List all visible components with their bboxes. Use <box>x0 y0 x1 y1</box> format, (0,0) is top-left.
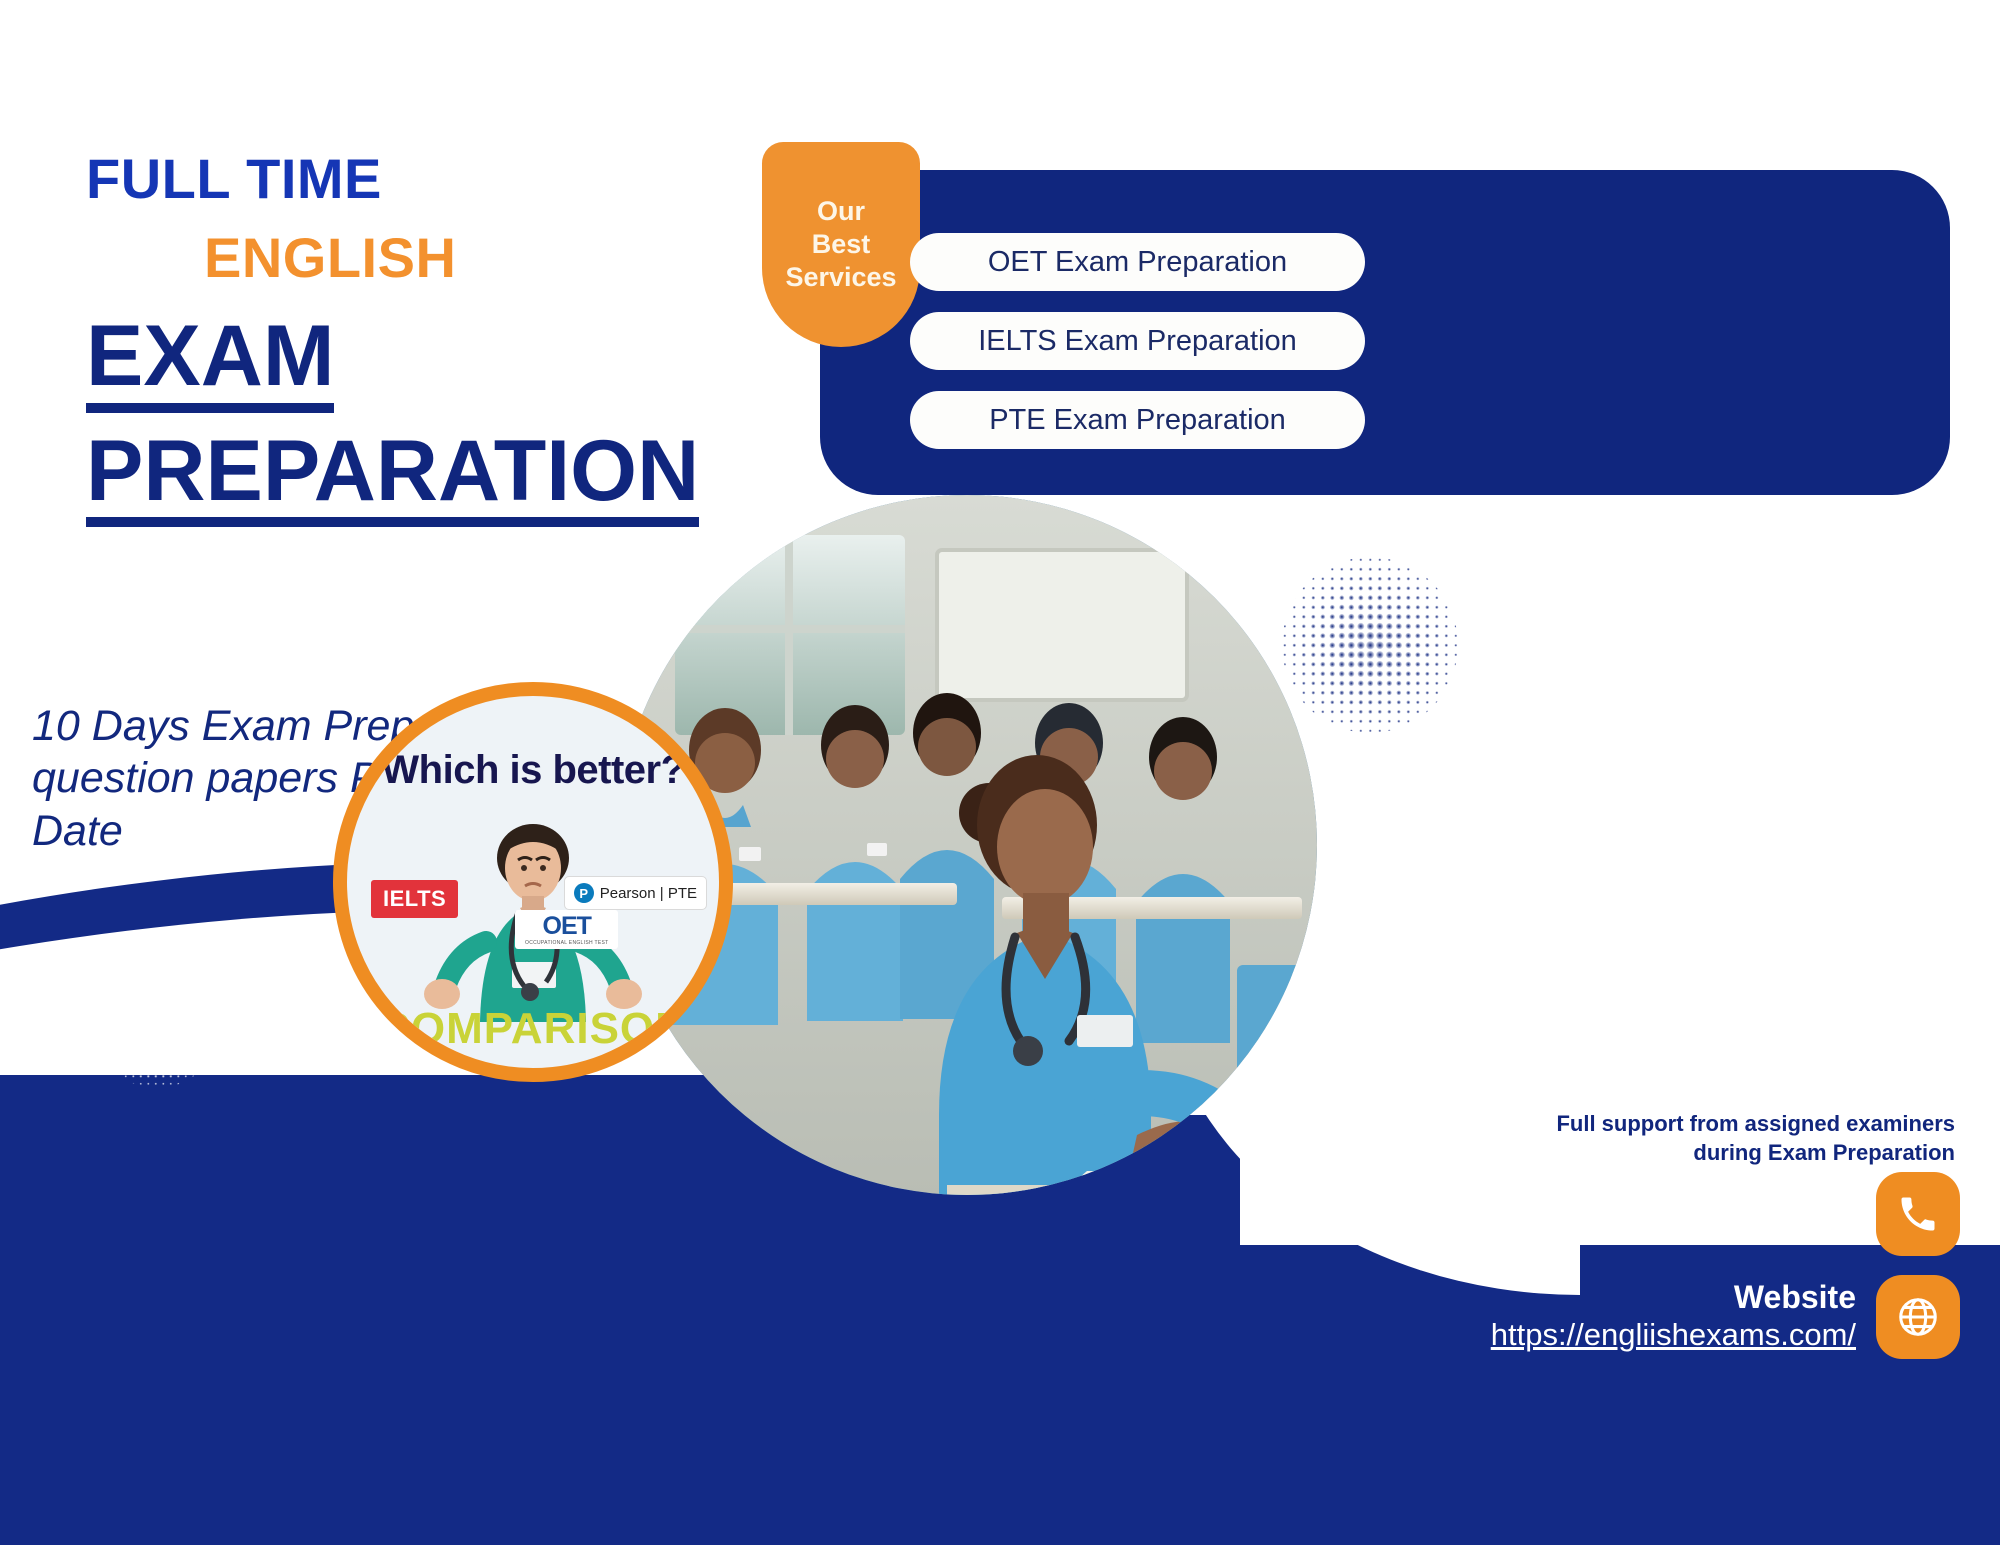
service-pill-ielts[interactable]: IELTS Exam Preparation <box>910 312 1365 370</box>
website-label: Website <box>1491 1280 1856 1316</box>
phone-label: Phone <box>1610 1177 1856 1213</box>
poster-canvas: FULL TIME ENGLISH EXAM PREPARATION 10 Da… <box>0 0 2000 1545</box>
badge-line-best: Best <box>812 228 871 261</box>
badge-line-services: Services <box>785 261 896 294</box>
pearson-pte-label: Pearson | PTE <box>600 885 697 902</box>
contact-website-row[interactable]: Website https://engliishexams.com/ <box>1491 1275 1960 1359</box>
pearson-mark-icon: P <box>574 883 594 903</box>
service-pill-oet[interactable]: OET Exam Preparation <box>910 233 1365 291</box>
oet-logo-subtitle: OCCUPATIONAL ENGLISH TEST <box>525 941 608 946</box>
support-note: Full support from assigned examiners dur… <box>1535 1110 1955 1167</box>
phone-value: +44-7418-368616 <box>1610 1213 1856 1250</box>
globe-icon[interactable] <box>1876 1275 1960 1359</box>
badge-line-our: Our <box>817 195 865 228</box>
halftone-dots-left <box>92 960 222 1095</box>
comparison-question: Which is better? <box>347 748 719 793</box>
contact-website-text: Website https://engliishexams.com/ <box>1491 1280 1856 1353</box>
pearson-pte-logo: P Pearson | PTE <box>564 876 707 910</box>
oet-logo: OET OCCUPATIONAL ENGLISH TEST <box>515 910 618 949</box>
headline-exam: EXAM <box>86 312 334 413</box>
halftone-dots-right <box>1280 555 1460 740</box>
service-pill-pte[interactable]: PTE Exam Preparation <box>910 391 1365 449</box>
our-best-services-badge: Our Best Services <box>762 142 920 347</box>
oet-logo-main: OET <box>525 914 608 939</box>
navy-block-bottom-left <box>0 1075 900 1545</box>
website-value[interactable]: https://engliishexams.com/ <box>1491 1316 1856 1353</box>
comparison-word: COMPARISON <box>347 1004 719 1054</box>
ielts-logo: IELTS <box>371 880 458 918</box>
contact-phone-row[interactable]: Phone +44-7418-368616 <box>1610 1172 1960 1256</box>
contact-phone-text: Phone +44-7418-368616 <box>1610 1177 1856 1250</box>
headline-preparation: PREPARATION <box>86 427 699 528</box>
comparison-photo: Which is better? <box>333 682 733 1082</box>
phone-icon[interactable] <box>1876 1172 1960 1256</box>
